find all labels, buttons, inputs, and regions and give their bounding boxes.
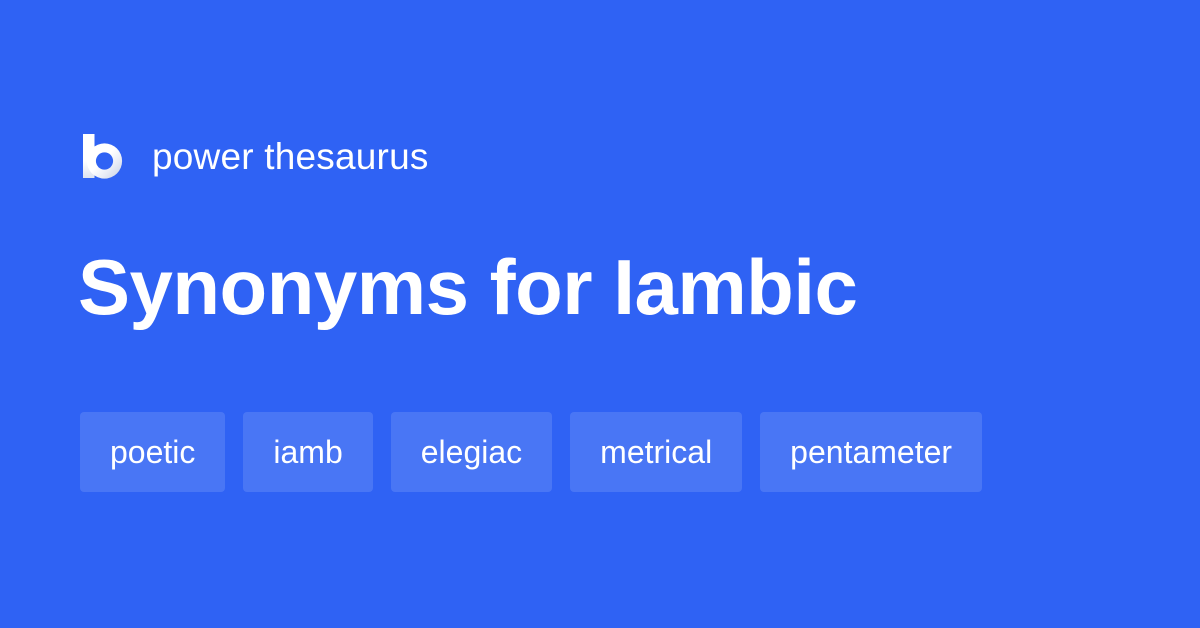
- brand-logo[interactable]: power thesaurus: [80, 128, 429, 184]
- power-thesaurus-b-logo-icon: [80, 132, 126, 180]
- synonym-chip[interactable]: elegiac: [391, 412, 552, 492]
- share-card: power thesaurus Synonyms for Iambic poet…: [0, 0, 1200, 628]
- page-title-prefix: Synonyms for: [78, 243, 613, 331]
- synonym-chip[interactable]: metrical: [570, 412, 742, 492]
- synonym-chip[interactable]: poetic: [80, 412, 225, 492]
- page-title-term: Iambic: [613, 243, 857, 331]
- synonym-chip[interactable]: iamb: [243, 412, 372, 492]
- synonym-chip-list: poetic iamb elegiac metrical pentameter: [80, 412, 982, 492]
- synonym-chip[interactable]: pentameter: [760, 412, 982, 492]
- page-title: Synonyms for Iambic: [78, 248, 857, 326]
- brand-name: power thesaurus: [152, 138, 429, 175]
